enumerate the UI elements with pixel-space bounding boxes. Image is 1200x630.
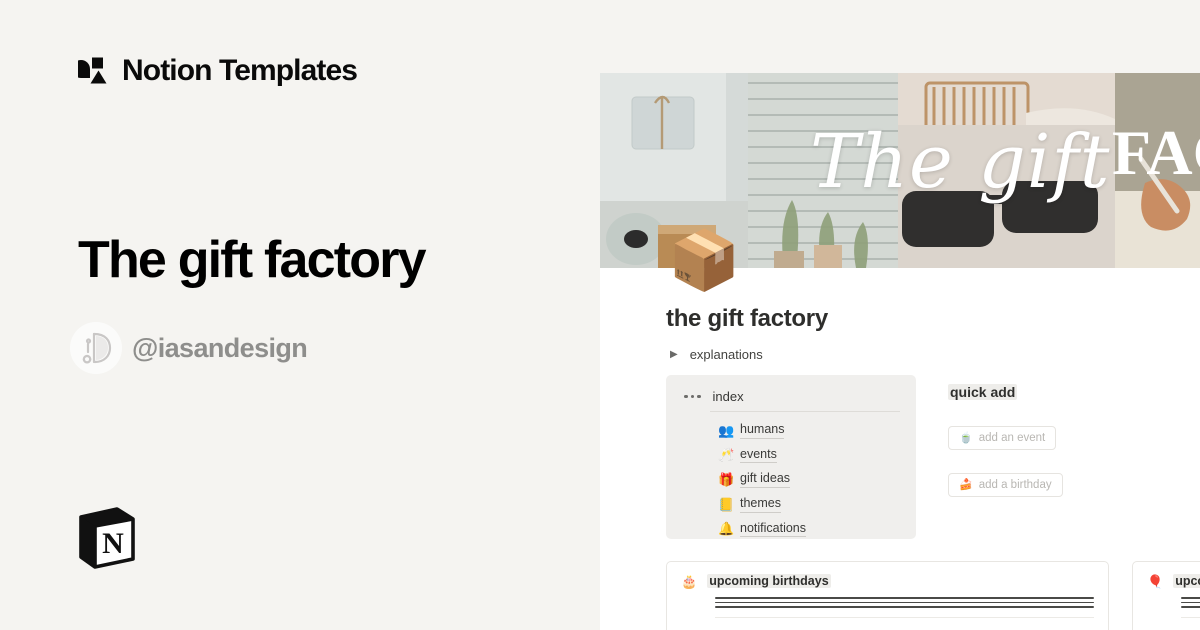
list-view-icon[interactable]: [1181, 597, 1200, 608]
balloon-emoji-icon: 🎈: [1147, 575, 1163, 588]
explanations-toggle-label: explanations: [690, 347, 763, 362]
upcoming-events-card[interactable]: 🎈 upcom: [1132, 561, 1200, 630]
add-a-birthday-button[interactable]: 🍰 add a birthday: [948, 473, 1063, 497]
page-title: The gift factory: [78, 232, 425, 289]
svg-text:N: N: [102, 527, 124, 560]
card-title: upcom: [1173, 574, 1200, 588]
window-blinds-plants-photo: [748, 73, 898, 268]
index-card-header: index: [682, 389, 900, 404]
gift-emoji-icon: 🎁: [718, 473, 733, 486]
index-card-title: index: [713, 389, 744, 404]
brand-header: Notion Templates: [78, 56, 357, 86]
card-body: [715, 597, 1094, 608]
bell-emoji-icon: 🔔: [718, 522, 733, 535]
teacup-emoji-icon: 🍵: [959, 433, 973, 444]
bedroom-sunglasses-photo: [898, 73, 1115, 268]
writing-hand-photo: [1115, 73, 1200, 268]
index-list: 👥 humans 🥂 events 🎁 gift ideas 📒 themes …: [718, 422, 900, 537]
card-title: upcoming birthdays: [707, 574, 830, 588]
humans-emoji-icon: 👥: [718, 424, 733, 437]
poster-canvas: Notion Templates The gift factory: [0, 0, 1200, 630]
card-divider: [1181, 617, 1200, 618]
index-link-label[interactable]: notifications: [740, 521, 806, 538]
brand-name: Notion Templates: [122, 56, 357, 86]
list-item[interactable]: 🎁 gift ideas: [718, 471, 900, 488]
notion-page-preview[interactable]: The gift FAC 📦 the gift factory ▶ explan…: [600, 73, 1200, 630]
list-item[interactable]: 🥂 events: [718, 447, 900, 464]
themes-emoji-icon: 📒: [718, 498, 733, 511]
index-link-label[interactable]: gift ideas: [740, 471, 790, 488]
avatar: [70, 322, 122, 374]
index-link-label[interactable]: themes: [740, 496, 781, 513]
index-link-label[interactable]: humans: [740, 422, 784, 439]
cake-slice-emoji-icon: 🍰: [959, 480, 973, 491]
list-view-icon[interactable]: [715, 597, 1094, 608]
quick-add-heading: quick add: [948, 384, 1017, 400]
add-an-event-button[interactable]: 🍵 add an event: [948, 426, 1056, 450]
document-title[interactable]: the gift factory: [666, 305, 828, 333]
index-divider: [710, 411, 900, 412]
list-item[interactable]: 👥 humans: [718, 422, 900, 439]
chevron-right-icon[interactable]: ▶: [670, 350, 678, 360]
add-an-event-label: add an event: [979, 432, 1046, 444]
package-emoji-icon[interactable]: 📦: [668, 228, 734, 294]
explanations-toggle[interactable]: ▶ explanations: [670, 347, 763, 362]
left-panel: Notion Templates The gift factory: [0, 0, 600, 630]
card-header: 🎂 upcoming birthdays: [681, 574, 1094, 588]
author-handle: @iasandesign: [132, 335, 307, 362]
list-item[interactable]: 📒 themes: [718, 496, 900, 513]
events-emoji-icon: 🥂: [718, 448, 733, 461]
author-row[interactable]: @iasandesign: [70, 322, 307, 374]
card-header: 🎈 upcom: [1147, 574, 1200, 588]
upcoming-birthdays-card[interactable]: 🎂 upcoming birthdays: [666, 561, 1109, 630]
card-body: [1181, 597, 1200, 608]
index-link-label[interactable]: events: [740, 447, 777, 464]
shapes-logo-icon: [78, 56, 108, 86]
index-card[interactable]: index 👥 humans 🥂 events 🎁 gift ideas 📒: [666, 375, 916, 539]
add-a-birthday-label: add a birthday: [979, 479, 1052, 491]
card-divider: [715, 617, 1094, 618]
list-item[interactable]: 🔔 notifications: [718, 521, 900, 538]
notion-cube-logo: N: [75, 505, 137, 571]
more-options-icon[interactable]: [682, 395, 701, 399]
birthday-cake-emoji-icon: 🎂: [681, 575, 697, 588]
